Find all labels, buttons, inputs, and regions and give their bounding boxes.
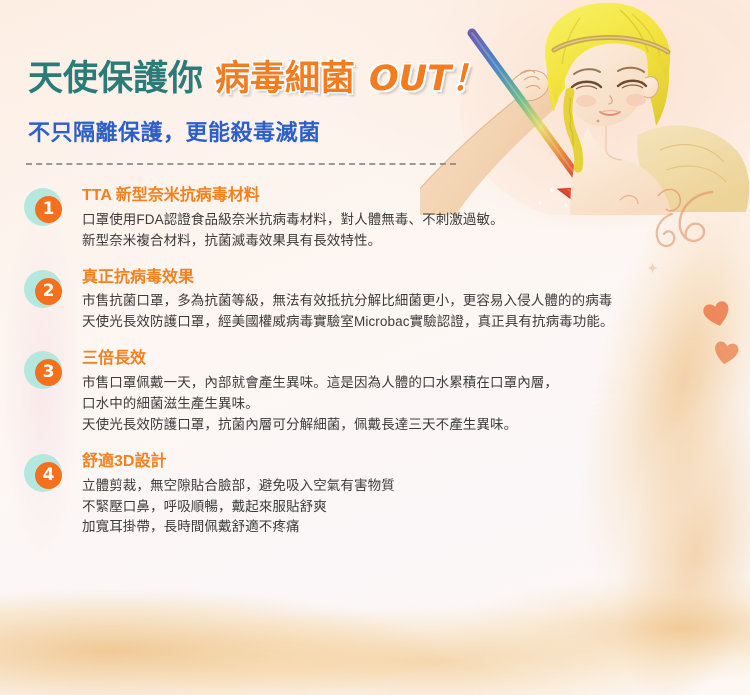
title-accent-text: 病毒細菌 [215,59,355,99]
main-title: 天使保護你 病毒細菌 OUT！ [28,50,486,101]
title-main-text: 天使保護你 [28,59,203,99]
feature-title: TTA 新型奈米抗病毒材料 [82,186,750,207]
badge-number: 4 [35,462,62,489]
feature-line: 市售口罩佩戴一天，內部就會產生異味。這是因為人體的口水累積在口罩內層， [82,373,750,394]
feature-line: 天使光長效防護口罩，抗菌內層可分解細菌，佩戴長達三天不產生異味。 [82,415,750,436]
banner-header: 天使保護你 病毒細菌 OUT！ 不只隔離保護，更能殺毒滅菌 [28,50,486,147]
feature-line: 天使光長效防護口罩，經美國權威病毒實驗室Microbac實驗認證，真正具有抗病毒… [82,312,750,333]
feature-item-4: 4 舒適3D設計 立體剪裁，無空隙貼合臉部，避免吸入空氣有害物質 不緊壓口鼻，呼… [0,452,750,539]
feature-badge-4: 4 [22,452,82,496]
badge-number: 3 [35,359,62,386]
feature-title: 舒適3D設計 [82,452,750,473]
feature-line: 立體剪裁，無空隙貼合臉部，避免吸入空氣有害物質 [82,476,750,497]
feature-item-2: 2 真正抗病毒效果 市售抗菌口罩，多為抗菌等級，無法有效抵抗分解比細菌更小，更容… [0,268,750,334]
feature-line: 加寬耳掛帶，長時間佩戴舒適不疼痛 [82,517,750,538]
feature-body-4: 舒適3D設計 立體剪裁，無空隙貼合臉部，避免吸入空氣有害物質 不緊壓口鼻，呼吸順… [82,452,750,539]
feature-title: 真正抗病毒效果 [82,268,750,289]
feature-badge-2: 2 [22,268,82,312]
badge-number: 1 [35,196,62,223]
feature-body-1: TTA 新型奈米抗病毒材料 口罩使用FDA認證食品級奈米抗病毒材料，對人體無毒、… [82,186,750,252]
feature-item-3: 3 三倍長效 市售口罩佩戴一天，內部就會產生異味。這是因為人體的口水累積在口罩內… [0,349,750,436]
badge-number: 2 [35,278,62,305]
feature-body-3: 三倍長效 市售口罩佩戴一天，內部就會產生異味。這是因為人體的口水累積在口罩內層，… [82,349,750,436]
feature-item-1: 1 TTA 新型奈米抗病毒材料 口罩使用FDA認證食品級奈米抗病毒材料，對人體無… [0,186,750,252]
feature-badge-1: 1 [22,186,82,230]
feature-list: 1 TTA 新型奈米抗病毒材料 口罩使用FDA認證食品級奈米抗病毒材料，對人體無… [0,186,750,538]
feature-body-2: 真正抗病毒效果 市售抗菌口罩，多為抗菌等級，無法有效抵抗分解比細菌更小，更容易入… [82,268,750,334]
feature-badge-3: 3 [22,349,82,393]
feature-line: 新型奈米複合材料，抗菌滅毒效果具有長效特性。 [82,231,750,252]
feature-title: 三倍長效 [82,349,750,370]
feature-line: 市售抗菌口罩，多為抗菌等級，無法有效抵抗分解比細菌更小，更容易入侵人體的的病毒 [82,291,750,312]
promo-banner: 天使保護你 病毒細菌 OUT！ 不只隔離保護，更能殺毒滅菌 1 TTA 新型奈米… [0,0,750,695]
dashed-divider [26,163,456,165]
feature-line: 口水中的細菌滋生產生異味。 [82,394,750,415]
title-out-text: OUT！ [369,50,486,101]
watercolor-wash-bottom [0,557,750,695]
feature-line: 口罩使用FDA認證食品級奈米抗病毒材料，對人體無毒、不刺激過敏。 [82,210,750,231]
subtitle-text: 不只隔離保護，更能殺毒滅菌 [28,115,486,147]
feature-line: 不緊壓口鼻，呼吸順暢，戴起來服貼舒爽 [82,497,750,518]
